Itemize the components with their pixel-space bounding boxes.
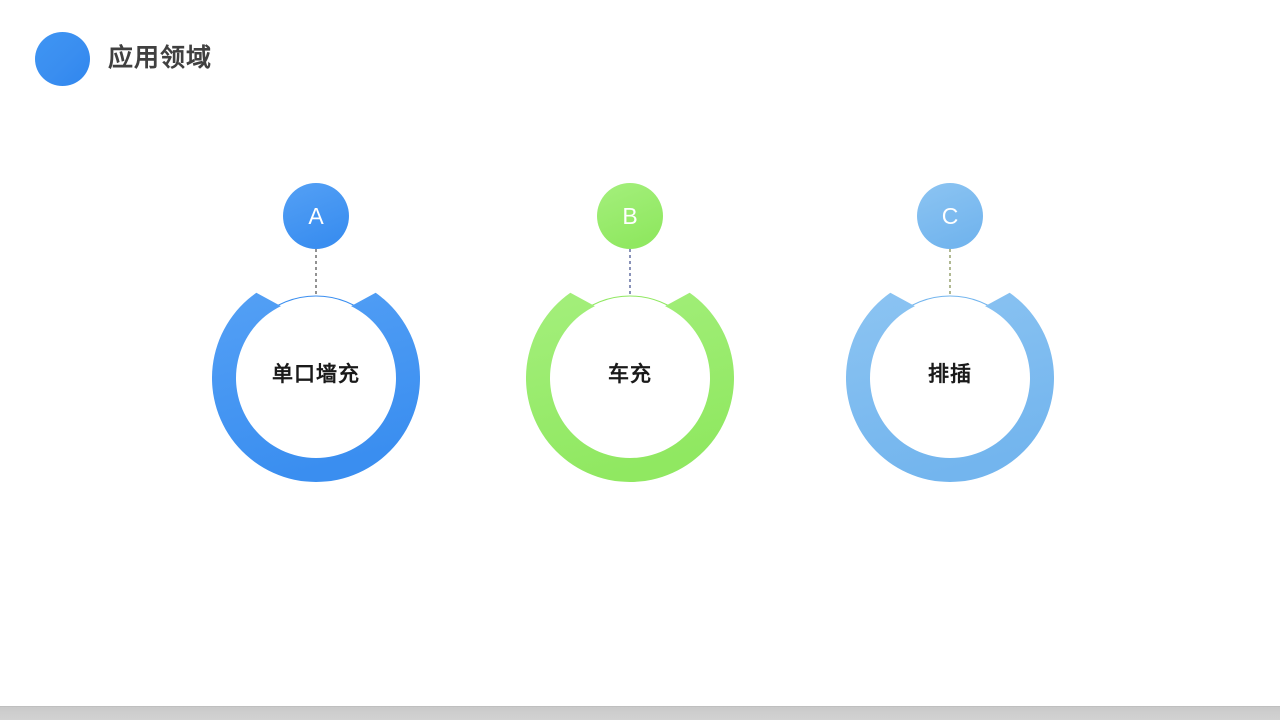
ring-node[interactable]: C排插 [810, 0, 1090, 560]
ring-diagram: A单口墙充B车充C排插 [0, 0, 1280, 720]
ring-node[interactable]: A单口墙充 [176, 0, 456, 560]
ring-label: 排插 [850, 360, 1050, 390]
badge-circle[interactable] [597, 183, 663, 249]
badge-circle[interactable] [917, 183, 983, 249]
footer-bar [0, 706, 1280, 720]
badge-circle[interactable] [283, 183, 349, 249]
ring-label: 车充 [530, 360, 730, 390]
ring-node[interactable]: B车充 [490, 0, 770, 560]
ring-label: 单口墙充 [216, 360, 416, 390]
